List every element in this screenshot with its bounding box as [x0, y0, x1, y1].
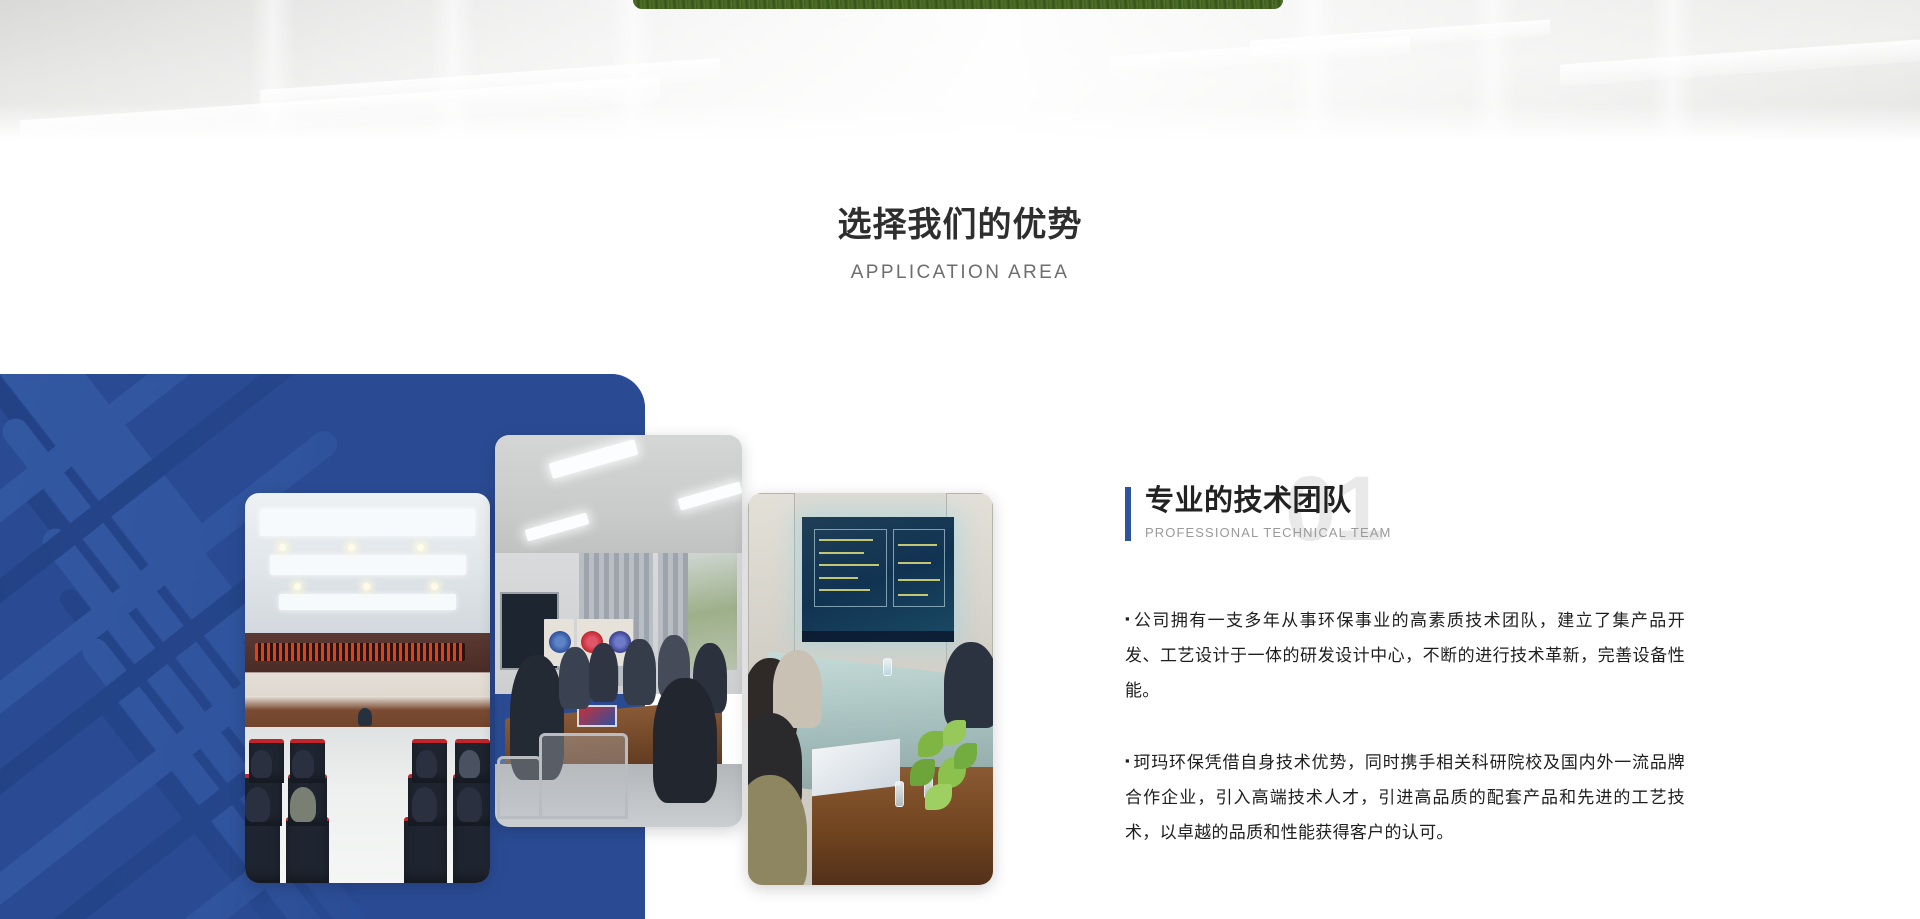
feature-title: 专业的技术团队 [1145, 485, 1685, 518]
hero-banner [0, 0, 1920, 144]
photo-seat-block [402, 665, 490, 883]
section-title: 选择我们的优势 [0, 205, 1920, 246]
gallery-photo-auditorium[interactable] [245, 493, 490, 883]
page-root: 选择我们的优势 APPLICATION AREA [0, 0, 1920, 919]
banner-fade [0, 104, 1920, 144]
banner-grass-strip [633, 0, 1283, 9]
bullet-icon: ▪ [1125, 611, 1131, 626]
feature-paragraph-text: 珂玛环保凭借自身技术优势，同时携手相关科研院校及国内外一流品牌合作企业，引入高端… [1125, 753, 1685, 842]
feature-content: 01 专业的技术团队 PROFESSIONAL TECHNICAL TEAM ▪… [1125, 485, 1685, 850]
photo-plant [910, 720, 988, 822]
accent-bar [1125, 487, 1131, 541]
photo-led-banner [255, 643, 466, 661]
photo-chair [539, 733, 628, 819]
feature-paragraph: ▪珂玛环保凭借自身技术优势，同时携手相关科研院校及国内外一流品牌合作企业，引入高… [1125, 743, 1685, 850]
bullet-icon: ▪ [1125, 753, 1130, 768]
photo-seat-block [245, 665, 333, 883]
section-subtitle: APPLICATION AREA [0, 262, 1920, 284]
feature-paragraph: ▪公司拥有一支多年从事环保事业的高素质技术团队，建立了集产品开发、工艺设计于一体… [1125, 601, 1685, 708]
feature-header: 01 专业的技术团队 PROFESSIONAL TECHNICAL TEAM [1125, 485, 1685, 557]
feature-paragraphs: ▪公司拥有一支多年从事环保事业的高素质技术团队，建立了集产品开发、工艺设计于一体… [1125, 601, 1685, 850]
photo-chair [497, 756, 541, 819]
feature-subtitle: PROFESSIONAL TECHNICAL TEAM [1145, 525, 1685, 540]
photo-projector-screen [802, 517, 954, 642]
section-header: 选择我们的优势 APPLICATION AREA [0, 205, 1920, 284]
feature-paragraph-text: 公司拥有一支多年从事环保事业的高素质技术团队，建立了集产品开发、工艺设计于一体的… [1125, 611, 1685, 700]
gallery-photo-projector-room[interactable] [748, 493, 993, 885]
gallery-photo-meeting-room[interactable] [495, 435, 742, 827]
